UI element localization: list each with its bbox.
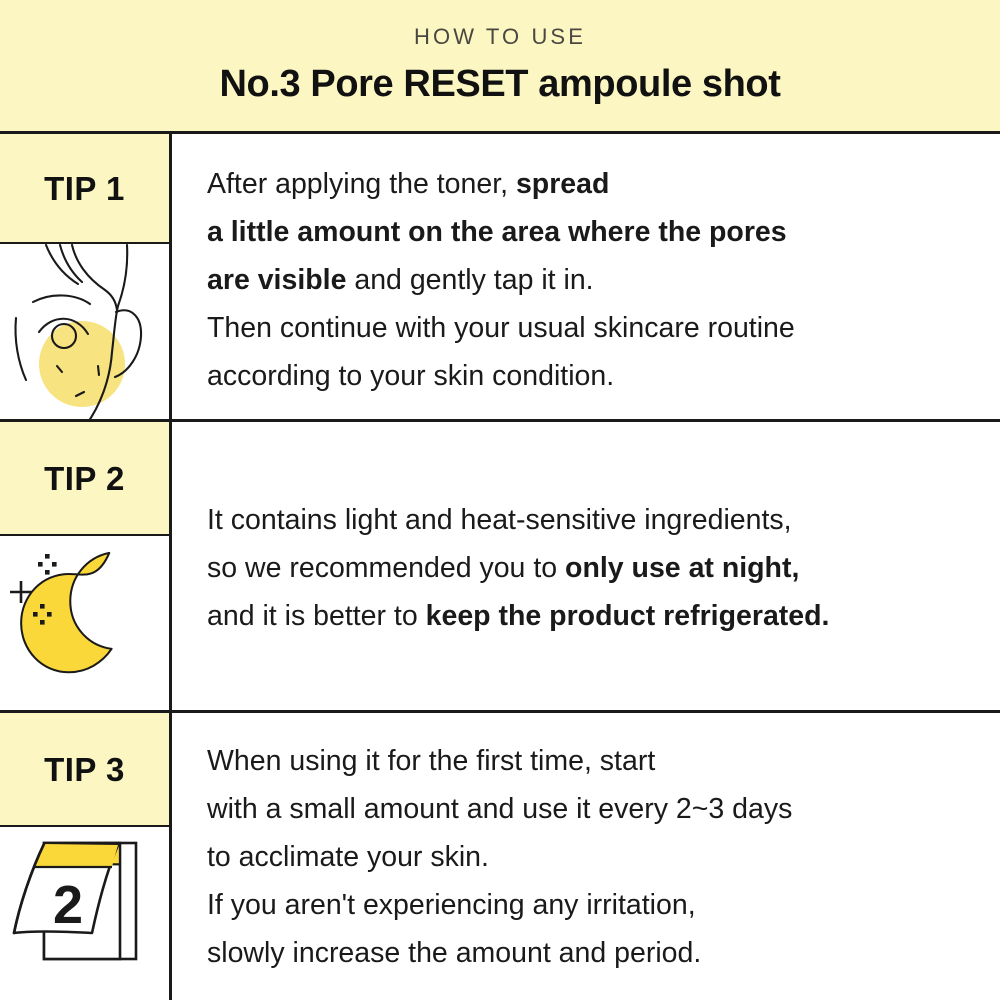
tip-label: TIP 1 (44, 172, 125, 205)
tip-label-box: TIP 2 (0, 422, 169, 536)
crescent-moon-sparkles-icon (0, 536, 169, 716)
tip-body-3: When using it for the first time, start … (172, 713, 1000, 1000)
calendar-icon: 2 (0, 827, 169, 1000)
tip-label: TIP 2 (44, 462, 125, 495)
body-line: so we recommended you to only use at nig… (207, 544, 980, 592)
body-line: It contains light and heat-sensitive ing… (207, 496, 980, 544)
tip-icon-wrap (0, 536, 169, 716)
tip-section-3: TIP 3 2 (0, 710, 1000, 1000)
how-to-use-infographic: HOW TO USE No.3 Pore RESET ampoule shot … (0, 0, 1000, 1000)
body-line: Then continue with your usual skincare r… (207, 304, 980, 352)
body-line: to acclimate your skin. (207, 833, 980, 881)
tip-section-2: TIP 2 (0, 419, 1000, 713)
tip-section-1: TIP 1 (0, 131, 1000, 422)
tip-icon-wrap (0, 244, 169, 425)
tip-label-box: TIP 1 (0, 134, 169, 244)
face-cheek-pores-icon (0, 244, 169, 425)
tip-column: TIP 1 (0, 134, 172, 422)
header-eyebrow: HOW TO USE (414, 26, 586, 48)
calendar-day-number: 2 (53, 875, 83, 935)
tip-label: TIP 3 (44, 753, 125, 786)
tip-column: TIP 2 (0, 422, 172, 713)
body-line: are visible and gently tap it in. (207, 256, 980, 304)
tip-body-1: After applying the toner, spread a littl… (172, 134, 1000, 422)
body-line: according to your skin condition. (207, 352, 980, 400)
tip-body-2: It contains light and heat-sensitive ing… (172, 422, 1000, 713)
header: HOW TO USE No.3 Pore RESET ampoule shot (0, 0, 1000, 131)
page-title: No.3 Pore RESET ampoule shot (219, 65, 780, 103)
tip-label-box: TIP 3 (0, 713, 169, 827)
body-line: After applying the toner, spread (207, 160, 980, 208)
body-line: with a small amount and use it every 2~3… (207, 785, 980, 833)
body-line: When using it for the first time, start (207, 737, 980, 785)
body-line: If you aren't experiencing any irritatio… (207, 881, 980, 929)
body-line: and it is better to keep the product ref… (207, 592, 980, 640)
tip-column: TIP 3 2 (0, 713, 172, 1000)
body-line: slowly increase the amount and period. (207, 929, 980, 977)
tip-icon-wrap: 2 (0, 827, 169, 1000)
body-line: a little amount on the area where the po… (207, 208, 980, 256)
